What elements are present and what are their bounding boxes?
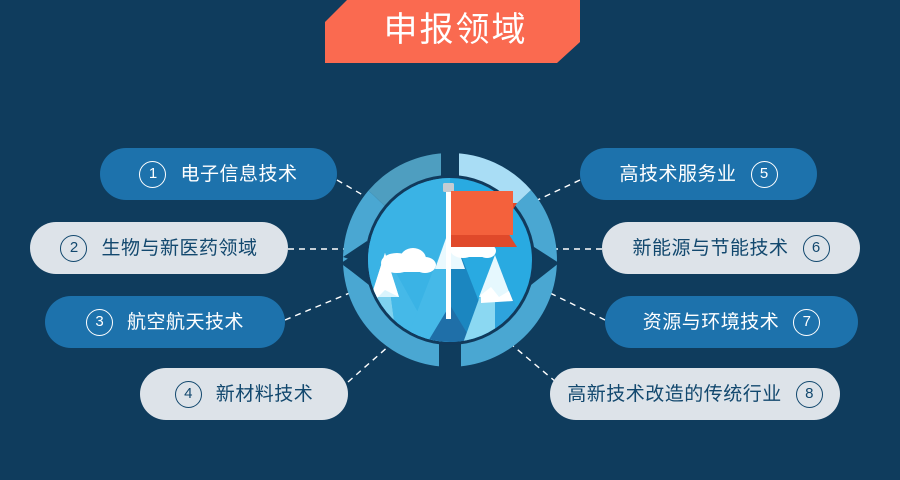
title-banner: 申报领域 [325,0,580,63]
pill-content: 新能源与节能技术6 [602,235,860,262]
pill-label: 新能源与节能技术 [632,239,788,258]
category-pill-3[interactable]: 3航空航天技术 [45,296,285,348]
pill-number-badge: 1 [139,161,166,188]
pill-label: 新材料技术 [216,385,314,404]
pill-label: 资源与环境技术 [643,313,780,332]
pill-content: 高技术服务业5 [580,161,817,188]
pill-content: 高新技术改造的传统行业8 [550,381,840,408]
pill-number-badge: 3 [86,309,113,336]
pill-number-badge: 5 [751,161,778,188]
pill-number-badge: 6 [803,235,830,262]
category-pill-4[interactable]: 4新材料技术 [140,368,348,420]
pill-label: 高新技术改造的传统行业 [567,385,782,404]
center-illustration [335,145,565,375]
pill-number-badge: 7 [793,309,820,336]
pill-label: 生物与新医药领域 [101,239,257,258]
pill-label: 航空航天技术 [127,313,244,332]
flag-pole-cap [443,183,454,192]
pill-number-badge: 4 [175,381,202,408]
flag-pole [446,189,451,319]
pill-number-badge: 8 [796,381,823,408]
pill-content: 资源与环境技术7 [605,309,858,336]
page-title: 申报领域 [378,13,528,51]
pill-label: 电子信息技术 [180,165,297,184]
category-pill-7[interactable]: 资源与环境技术7 [605,296,858,348]
pill-content: 4新材料技术 [140,381,348,408]
pill-label: 高技术服务业 [619,165,736,184]
pill-content: 1电子信息技术 [100,161,337,188]
category-pill-8[interactable]: 高新技术改造的传统行业8 [550,368,840,420]
flag-banner [451,191,513,235]
pill-content: 2生物与新医药领域 [30,235,288,262]
category-pill-6[interactable]: 新能源与节能技术6 [602,222,860,274]
pill-content: 3航空航天技术 [45,309,285,336]
category-pill-5[interactable]: 高技术服务业5 [580,148,817,200]
infographic-canvas: 申报领域 [0,0,900,480]
pill-number-badge: 2 [60,235,87,262]
category-pill-1[interactable]: 1电子信息技术 [100,148,337,200]
category-pill-2[interactable]: 2生物与新医药领域 [30,222,288,274]
